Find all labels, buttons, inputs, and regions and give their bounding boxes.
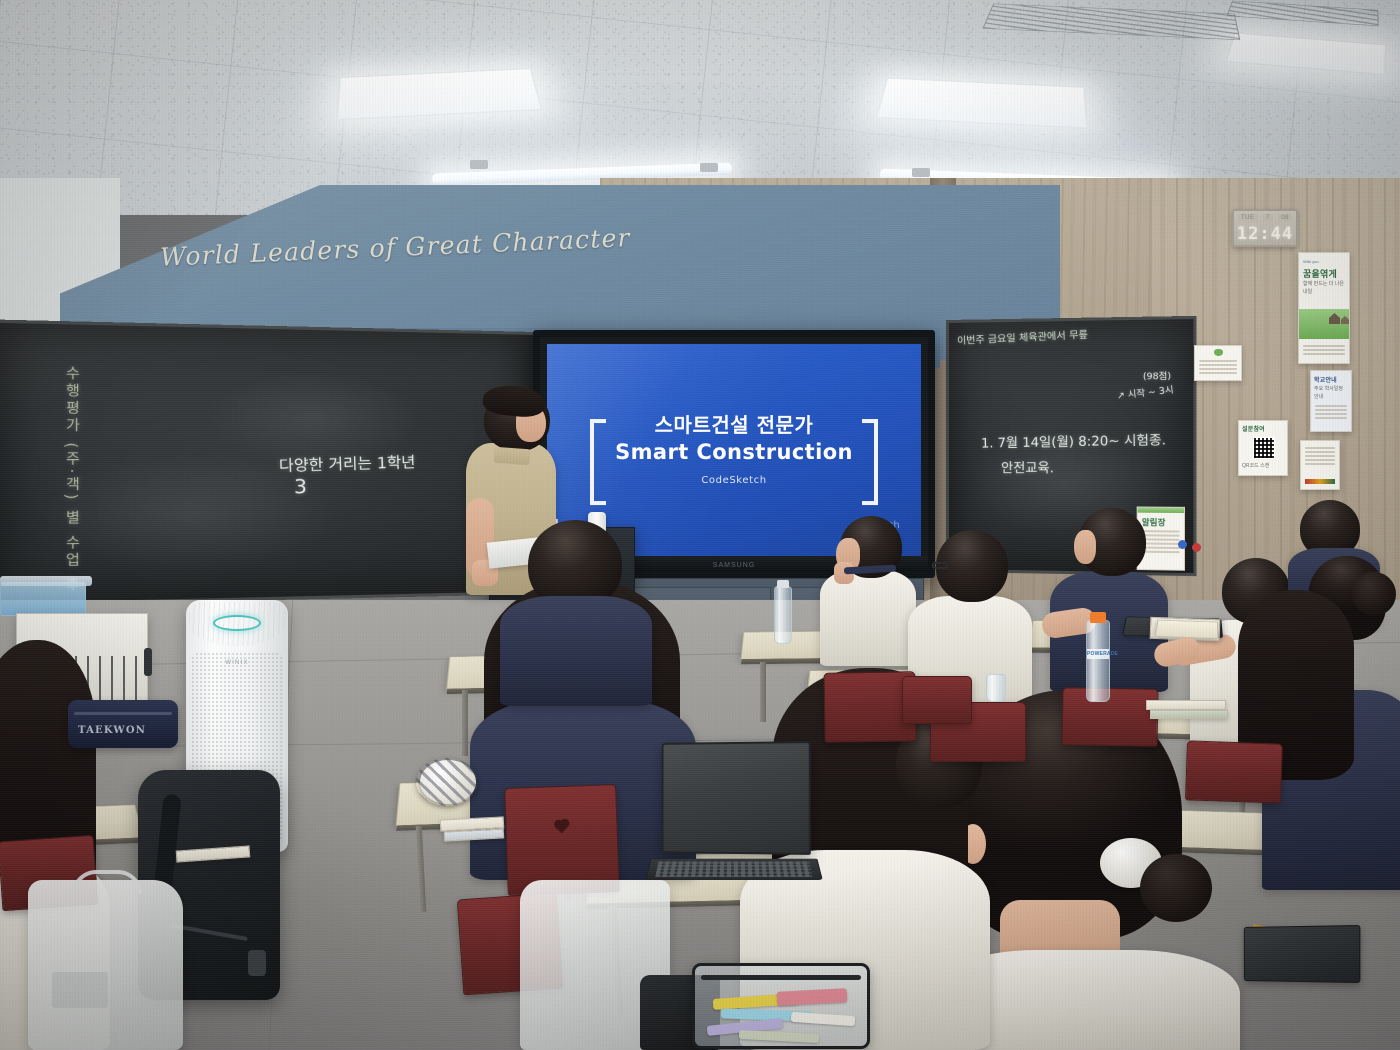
- green-campaign-poster-title: 꿈을엮게: [1303, 267, 1337, 280]
- board-notice-sheet-title: 알림장: [1142, 517, 1180, 529]
- tube-light-mount: [912, 168, 930, 177]
- desk-leg: [760, 662, 766, 722]
- qr-notice-sub: QR코드 스캔: [1242, 463, 1284, 471]
- digital-wall-clock: TUE 7 08 12:44: [1232, 209, 1298, 247]
- blackboard-left-vertical-note: 수행평가 (주·객) 별 수업 후: [60, 365, 82, 549]
- board-magnet: [1178, 540, 1187, 549]
- tube-light-mount: [700, 163, 718, 172]
- shopping-bag: [28, 880, 183, 1050]
- blackboard-right-item-1: 1. 7월 14일(월) 8:20~ 시험종.: [981, 429, 1166, 452]
- taekwon-pouch-label: TAEKWON: [78, 725, 146, 736]
- presenter-collar: [493, 447, 530, 465]
- green-campaign-poster-sub: 함께 만드는 더 나은 내일: [1303, 281, 1345, 296]
- clock-day: TUE: [1238, 214, 1258, 222]
- bracket-left-icon: [590, 419, 606, 505]
- desk-leg: [462, 690, 468, 756]
- clock-month: 7: [1263, 214, 1273, 222]
- storage-bin-lid: [0, 576, 92, 586]
- slide-title-korean: 스마트건설 전문가: [604, 413, 864, 438]
- notebook: [1146, 700, 1226, 710]
- classroom-photo-scene: World Leaders of Great Character 수행평가 (주…: [0, 0, 1400, 1050]
- pen: [777, 988, 848, 1006]
- display-brand-logo: SAMSUNG: [713, 562, 755, 569]
- taekwon-pouch: TAEKWON: [68, 700, 178, 748]
- worksheet: [1155, 620, 1218, 639]
- pouch-zipper: [74, 712, 172, 715]
- sports-drink-bottle: POWERADE: [1086, 620, 1110, 702]
- side-notice-sheet: [1300, 440, 1340, 490]
- blackboard-left: 수행평가 (주·객) 별 수업 후 다양한 거리는 1학년 3: [0, 320, 536, 607]
- slide-brand-label: CodeSketch: [604, 475, 864, 486]
- board-magnet: [1192, 543, 1201, 552]
- qr-code: [1253, 437, 1275, 459]
- blackboard-right-item-2: 안전교육.: [1001, 457, 1054, 476]
- student-torso: [820, 570, 916, 666]
- bottle-label: POWERADE: [1087, 649, 1109, 659]
- qr-notice: 설문참여 QR코드 스캔: [1238, 420, 1288, 476]
- green-info-card-icon: [1214, 349, 1223, 356]
- hair-bun: [1140, 854, 1212, 922]
- student-torso: [500, 596, 652, 706]
- qr-notice-title: 설문참여: [1242, 424, 1265, 433]
- green-campaign-poster: With you 꿈을엮게 함께 만드는 더 나은 내일: [1298, 252, 1350, 364]
- air-purifier-brand: WINIX: [225, 660, 248, 666]
- bracket-right-icon: [862, 419, 878, 505]
- notice-poster-title: 학교안내: [1314, 375, 1337, 384]
- blue-storage-bin: [0, 582, 86, 616]
- notebook: [1150, 710, 1228, 719]
- chair: [1185, 740, 1283, 803]
- slide-title-english: Smart Construction: [604, 440, 864, 464]
- chair: [902, 676, 972, 724]
- bag-print: [52, 972, 108, 1008]
- blackboard-right-arrow-note: ↗ 시작 ~ 3시: [1116, 382, 1174, 401]
- notice-poster-sub: 주요 학사일정 안내: [1314, 386, 1348, 401]
- clock-header-row: TUE 7 08: [1238, 214, 1292, 222]
- hair-bun: [1352, 572, 1396, 616]
- green-info-card: [1194, 345, 1242, 381]
- pencil-case-zipper: [701, 975, 861, 980]
- student-glasses-icon: [932, 562, 948, 569]
- blackboard-left-note-line1: 다양한 거리는 1학년: [279, 451, 416, 476]
- blackboard-right-corner-note: (98점): [1143, 369, 1171, 383]
- student-laptop[interactable]: [662, 741, 811, 855]
- water-bottle: [986, 674, 1006, 702]
- clock-date: 08: [1278, 214, 1292, 222]
- tube-light-mount: [470, 160, 488, 169]
- clock-time-display: 12:44: [1234, 224, 1296, 244]
- backpack-keychain: [248, 950, 266, 976]
- blackboard-left-note-line2: 3: [294, 475, 307, 498]
- notice-poster: 학교안내 주요 학사일정 안내: [1310, 370, 1352, 432]
- blackboard-right-header: 이번주 금요일 체육관에서 무릎: [957, 326, 1088, 348]
- bag-handle: [72, 870, 142, 894]
- student-tablet[interactable]: [1244, 925, 1361, 983]
- patterned-scrunchie: [416, 758, 478, 806]
- chair: [1062, 687, 1159, 747]
- cabinet-handle: [144, 648, 152, 676]
- laptop-keyboard[interactable]: [645, 859, 823, 880]
- air-purifier-indicator-ring: [213, 615, 261, 631]
- pen: [739, 1030, 819, 1043]
- presentation-slide: 스마트건설 전문가 Smart Construction CodeSketch: [604, 413, 864, 486]
- poster-color-bar: [1305, 479, 1335, 484]
- laptop-keys: [655, 861, 813, 877]
- student-face: [1074, 530, 1096, 564]
- transparent-pencil-case: [692, 963, 870, 1049]
- water-bottle: [774, 586, 792, 644]
- pen: [791, 1012, 856, 1026]
- bottle-cap: [1090, 612, 1106, 623]
- bottle-cap: [777, 580, 789, 588]
- heart-cutout-icon: [555, 821, 568, 834]
